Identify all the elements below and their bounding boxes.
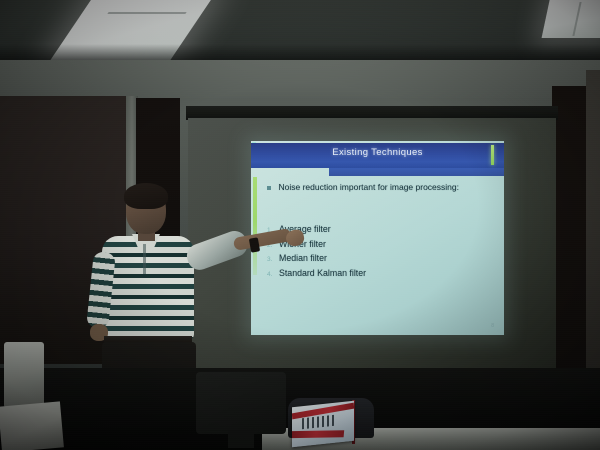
- slide-left-accent-stripe: [253, 177, 257, 275]
- slide-numbered-item: 3. Median filter: [267, 253, 492, 264]
- wall-far-right: [586, 70, 600, 410]
- white-equipment-box: [4, 342, 44, 408]
- list-text-3: Median filter: [279, 253, 327, 264]
- slide-bullet-item: Noise reduction important for image proc…: [267, 181, 492, 193]
- slide-number: 8: [491, 323, 494, 329]
- placard-text-glyphs: [302, 415, 336, 430]
- list-text-4: Standard Kalman filter: [279, 268, 366, 279]
- computer-monitor: [196, 372, 286, 434]
- presentation-photo: Existing Techniques Noise reduction impo…: [0, 0, 600, 450]
- placard-red-band-bottom: [292, 430, 344, 438]
- presenter-hair: [124, 183, 168, 209]
- square-bullet-icon: [267, 186, 271, 190]
- list-number-4: 4.: [267, 271, 279, 278]
- list-number-3: 3.: [267, 256, 279, 263]
- slide-title: Existing Techniques: [251, 147, 504, 158]
- presenter-right-arm: [184, 228, 251, 274]
- slide-bullet-list: Noise reduction important for image proc…: [267, 181, 492, 193]
- monitor-stand: [228, 430, 254, 448]
- ceiling-light-right-icon: [542, 0, 600, 38]
- slide-title-band-step: [329, 168, 504, 176]
- paper-placard: [292, 401, 354, 448]
- white-cloth: [0, 401, 64, 450]
- presenter-placket: [143, 244, 146, 274]
- slide-bullet-text: Noise reduction important for image proc…: [279, 181, 459, 193]
- ceiling-light-left-divider: [107, 12, 186, 14]
- wall-upper-band: [0, 60, 600, 98]
- wall-panel-right: [552, 86, 588, 406]
- slide-numbered-item: 4. Standard Kalman filter: [267, 268, 492, 279]
